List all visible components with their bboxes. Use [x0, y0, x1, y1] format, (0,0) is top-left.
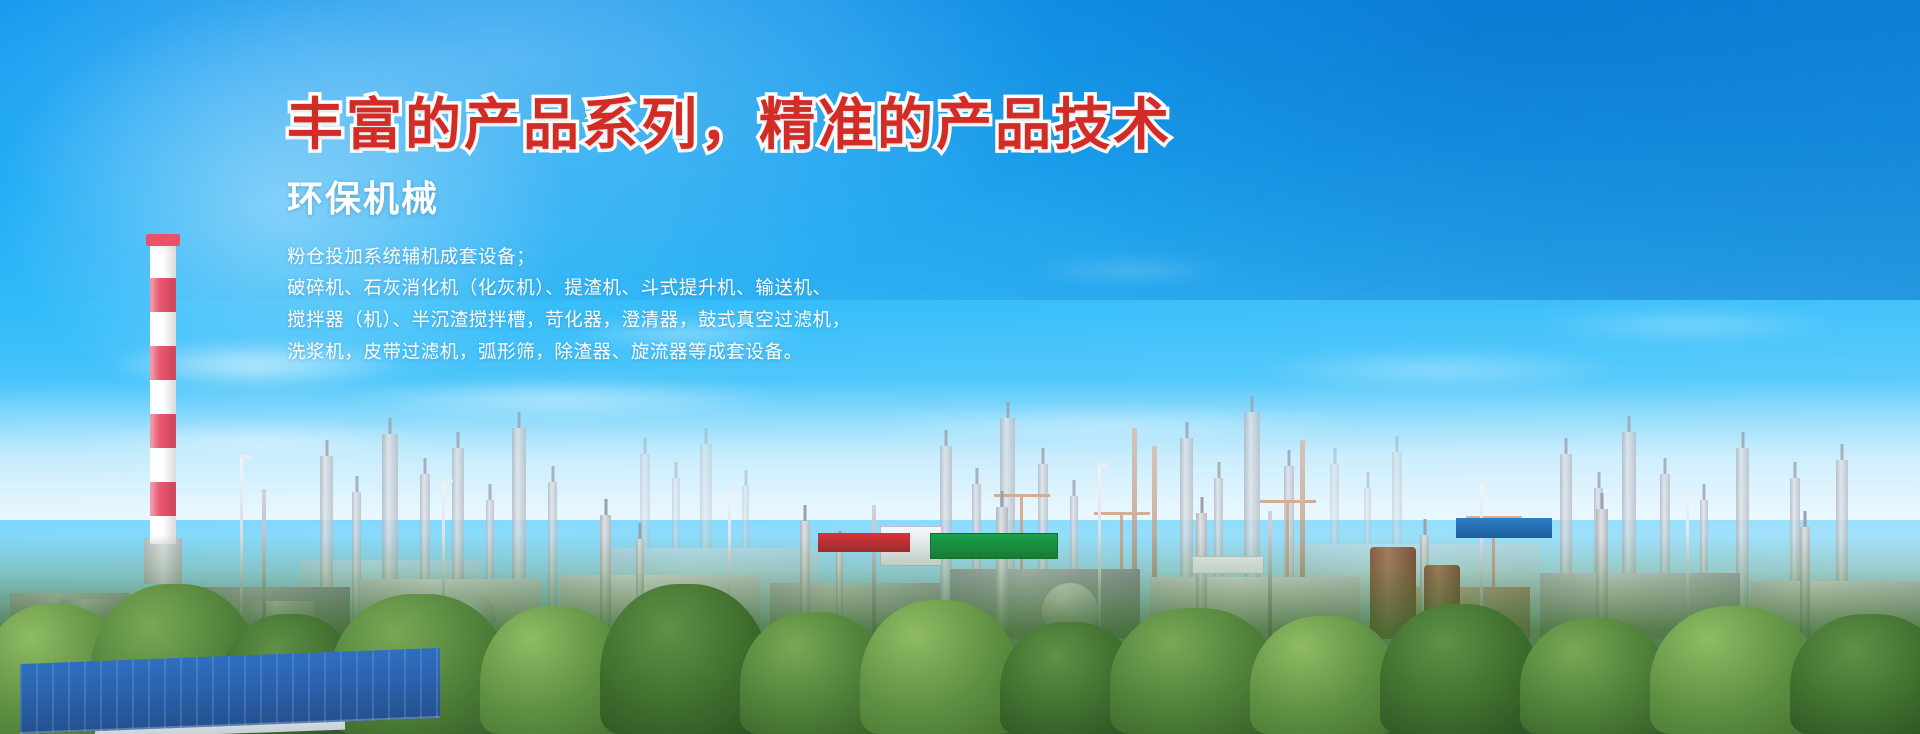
banner-text-overlay: 丰富的产品系列，精准的产品技术 环保机械 粉仓投加系统辅机成套设备； 破碎机、石…: [287, 98, 1187, 369]
description-line-3: 搅拌器（机）、半沉渣搅拌槽，苛化器，澄清器，鼓式真空过滤机，: [287, 305, 1187, 337]
description-line-1: 粉仓投加系统辅机成套设备；: [287, 242, 1187, 274]
banner-subtitle: 环保机械: [287, 180, 1187, 220]
striped-chimney-icon: [150, 244, 176, 544]
description-line-2: 破碎机、石灰消化机（化灰机）、提渣机、斗式提升机、输送机、: [287, 273, 1187, 305]
banner-headline: 丰富的产品系列，精准的产品技术: [287, 98, 1187, 154]
banner-description: 粉仓投加系统辅机成套设备； 破碎机、石灰消化机（化灰机）、提渣机、斗式提升机、输…: [287, 242, 1187, 369]
description-line-4: 洗浆机，皮带过滤机，弧形筛，除渣器、旋流器等成套设备。: [287, 337, 1187, 369]
hero-banner: 丰富的产品系列，精准的产品技术 环保机械 粉仓投加系统辅机成套设备； 破碎机、石…: [0, 0, 1920, 734]
